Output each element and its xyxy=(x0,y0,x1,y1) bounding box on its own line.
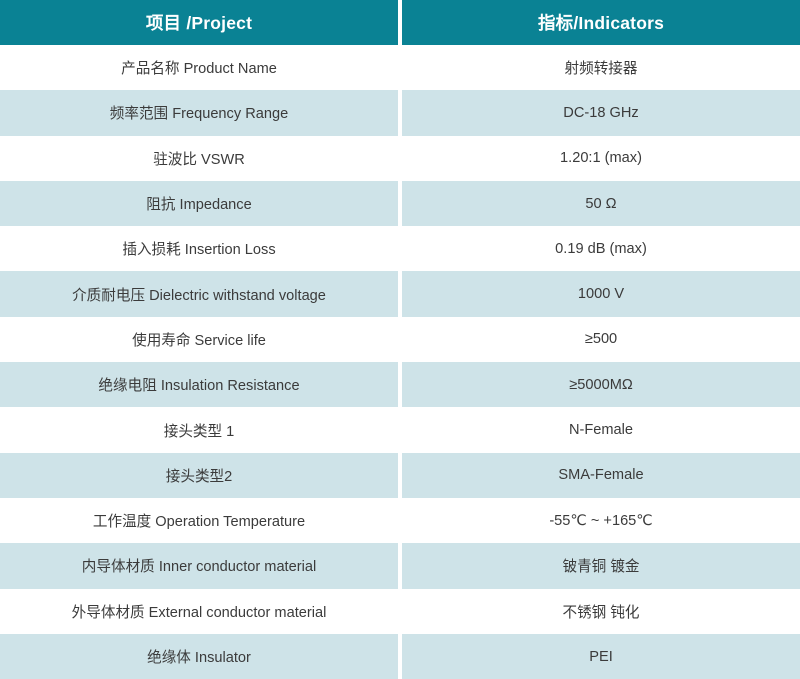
cell-indicator: 1000 V xyxy=(402,271,800,316)
cell-indicator: 射频转接器 xyxy=(402,45,800,90)
cell-indicator: 不锈钢 钝化 xyxy=(402,589,800,634)
cell-indicator: ≥500 xyxy=(402,317,800,362)
table-row: 绝缘电阻 Insulation Resistance≥5000MΩ xyxy=(0,362,800,407)
cell-project: 使用寿命 Service life xyxy=(0,317,398,362)
table-header: 项目 /Project 指标/Indicators xyxy=(0,0,800,45)
cell-project: 频率范围 Frequency Range xyxy=(0,90,398,135)
cell-indicator: ≥5000MΩ xyxy=(402,362,800,407)
table-row: 驻波比 VSWR1.20:1 (max) xyxy=(0,136,800,181)
cell-indicator: 0.19 dB (max) xyxy=(402,226,800,271)
cell-project: 外导体材质 External conductor material xyxy=(0,589,398,634)
table-row: 绝缘体 InsulatorPEI xyxy=(0,634,800,679)
specification-table: 项目 /Project 指标/Indicators 产品名称 Product N… xyxy=(0,0,800,679)
cell-project: 产品名称 Product Name xyxy=(0,45,398,90)
cell-indicator: PEI xyxy=(402,634,800,679)
table-row: 外导体材质 External conductor material不锈钢 钝化 xyxy=(0,589,800,634)
header-cell-project: 项目 /Project xyxy=(0,0,398,45)
cell-indicator: 1.20:1 (max) xyxy=(402,136,800,181)
table-row: 内导体材质 Inner conductor material铍青铜 镀金 xyxy=(0,543,800,588)
cell-project: 阻抗 Impedance xyxy=(0,181,398,226)
table-body: 产品名称 Product Name射频转接器频率范围 Frequency Ran… xyxy=(0,45,800,679)
header-cell-indicators: 指标/Indicators xyxy=(402,0,800,45)
cell-project: 介质耐电压 Dielectric withstand voltage xyxy=(0,271,398,316)
cell-project: 工作温度 Operation Temperature xyxy=(0,498,398,543)
header-row: 项目 /Project 指标/Indicators xyxy=(0,0,800,45)
cell-project: 内导体材质 Inner conductor material xyxy=(0,543,398,588)
cell-indicator: 铍青铜 镀金 xyxy=(402,543,800,588)
cell-project: 绝缘电阻 Insulation Resistance xyxy=(0,362,398,407)
table-row: 产品名称 Product Name射频转接器 xyxy=(0,45,800,90)
table-row: 接头类型 1N-Female xyxy=(0,407,800,452)
table-row: 频率范围 Frequency RangeDC-18 GHz xyxy=(0,90,800,135)
table-row: 工作温度 Operation Temperature-55℃ ~ +165℃ xyxy=(0,498,800,543)
cell-indicator: N-Female xyxy=(402,407,800,452)
cell-indicator: DC-18 GHz xyxy=(402,90,800,135)
cell-project: 接头类型2 xyxy=(0,453,398,498)
table-row: 接头类型2SMA-Female xyxy=(0,453,800,498)
cell-project: 插入损耗 Insertion Loss xyxy=(0,226,398,271)
cell-indicator: SMA-Female xyxy=(402,453,800,498)
cell-project: 接头类型 1 xyxy=(0,407,398,452)
cell-indicator: -55℃ ~ +165℃ xyxy=(402,498,800,543)
cell-indicator: 50 Ω xyxy=(402,181,800,226)
table-row: 使用寿命 Service life≥500 xyxy=(0,317,800,362)
table-row: 阻抗 Impedance50 Ω xyxy=(0,181,800,226)
cell-project: 绝缘体 Insulator xyxy=(0,634,398,679)
table-row: 介质耐电压 Dielectric withstand voltage1000 V xyxy=(0,271,800,316)
table-row: 插入损耗 Insertion Loss0.19 dB (max) xyxy=(0,226,800,271)
cell-project: 驻波比 VSWR xyxy=(0,136,398,181)
